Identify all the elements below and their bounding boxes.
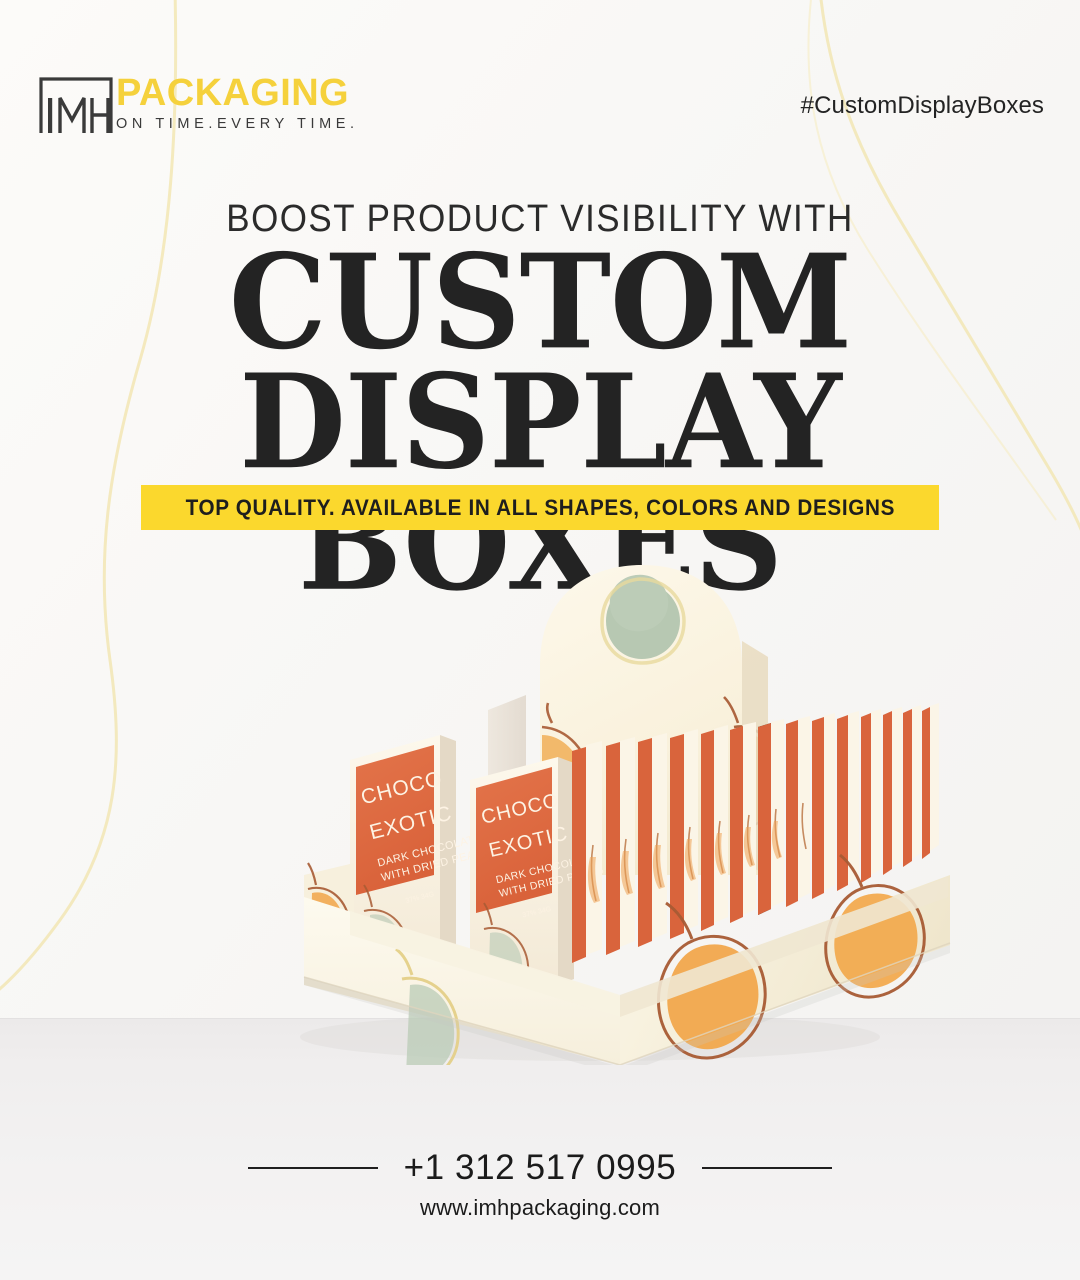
brand-logo[interactable]: PACKAGING ON TIME.EVERY TIME. — [38, 76, 359, 136]
headline-line-1: CUSTOM DISPLAY — [0, 243, 1080, 482]
tagline-ribbon: TOP QUALITY. AVAILABLE IN ALL SHAPES, CO… — [141, 485, 939, 530]
campaign-hashtag: #CustomDisplayBoxes — [801, 92, 1044, 120]
contact-phone[interactable]: +1 312 517 0995 — [404, 1148, 677, 1188]
tagline-ribbon-text: TOP QUALITY. AVAILABLE IN ALL SHAPES, CO… — [185, 495, 894, 521]
poster-header: PACKAGING ON TIME.EVERY TIME. #CustomDis… — [0, 0, 1080, 165]
contact-website[interactable]: www.imhpackaging.com — [0, 1195, 1080, 1221]
poster-footer: +1 312 517 0995 www.imhpackaging.com — [0, 1148, 1080, 1221]
product-display-box: CHOCO EXOTIC DARK CHOCOLATE WITH DRIED P… — [0, 545, 1080, 1065]
logo-word: PACKAGING — [116, 72, 349, 114]
phone-row: +1 312 517 0995 — [0, 1148, 1080, 1188]
divider-right — [702, 1167, 832, 1169]
headline-block: BOOST PRODUCT VISIBILITY WITH CUSTOM DIS… — [0, 196, 1080, 598]
logo-tagline: ON TIME.EVERY TIME. — [116, 114, 359, 134]
poster-canvas: PACKAGING ON TIME.EVERY TIME. #CustomDis… — [0, 0, 1080, 1280]
divider-left — [248, 1167, 378, 1169]
imh-monogram-icon — [38, 76, 114, 136]
logo-wordmark: PACKAGING ON TIME.EVERY TIME. — [116, 74, 359, 134]
